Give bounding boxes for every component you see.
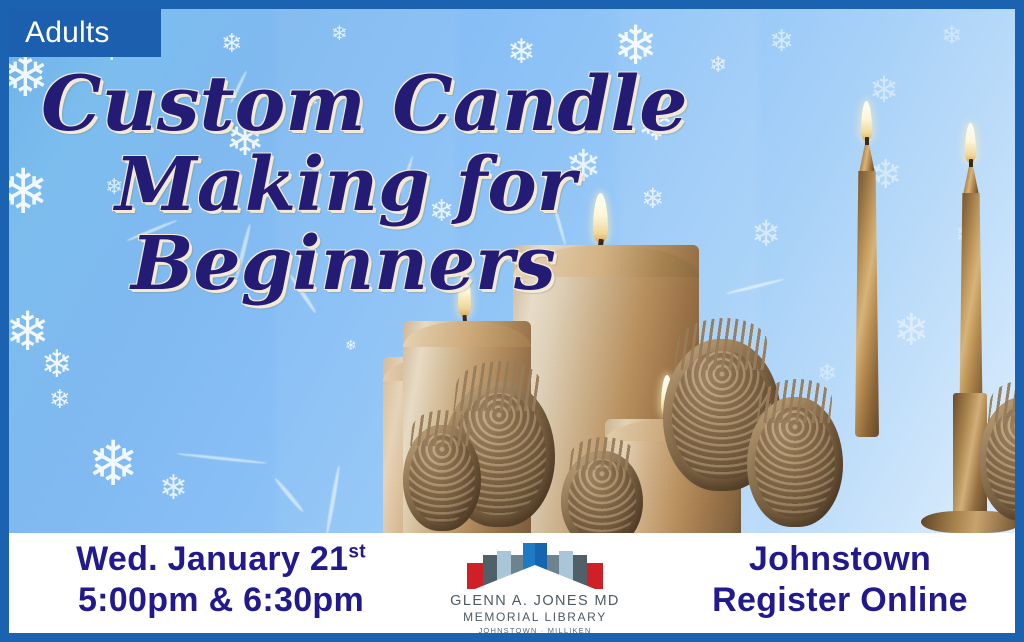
ice-sliver xyxy=(234,223,252,280)
snowflake-icon: ❄ xyxy=(345,339,357,353)
event-date: Wed. January 21st xyxy=(31,539,411,580)
candle-top xyxy=(403,321,531,347)
registration-info: Johnstown Register Online xyxy=(675,539,1005,622)
ice-sliver xyxy=(229,70,247,104)
snowflake-icon: ❄ xyxy=(305,93,318,109)
candle-flame xyxy=(458,271,471,317)
pine-cone-scales xyxy=(410,410,473,446)
event-times: 5:00pm & 6:30pm xyxy=(31,580,411,621)
snowflake-icon: ❄ xyxy=(49,387,71,413)
taper-body xyxy=(963,167,979,195)
snowflake-icon: ❄ xyxy=(159,471,188,505)
snowflake-icon: ❄ xyxy=(87,433,139,495)
ice-sliver xyxy=(288,274,317,314)
snowflake-icon: ❄ xyxy=(507,35,536,69)
library-name: GLENN A. JONES MD xyxy=(435,593,635,610)
library-locations: JOHNSTOWN · MILLIKEN xyxy=(435,625,635,633)
ice-sliver xyxy=(177,452,267,464)
taper-body xyxy=(855,171,879,437)
snowflake-icon: ❄ xyxy=(225,115,265,163)
snowflake-icon: ❄ xyxy=(613,19,658,73)
pine-cone-small-left xyxy=(403,425,481,531)
candle-flame xyxy=(593,193,608,243)
snowflake-icon: ❄ xyxy=(105,177,123,199)
library-subtitle: MEMORIAL LIBRARY xyxy=(435,610,635,625)
event-date-ordinal-suffix: st xyxy=(348,542,366,563)
pine-cone-back-right xyxy=(747,397,843,527)
candle-scene-illustration xyxy=(409,129,1015,533)
ice-sliver xyxy=(325,465,341,533)
snowflake-icon: ❄ xyxy=(769,27,794,57)
snowflake-icon: ❄ xyxy=(709,55,727,77)
taper-body xyxy=(859,145,875,173)
taper-candle-left xyxy=(853,137,879,437)
poster-inner: ❄ ❄ ❄ ❄ ❄ ❄ ❄ ❄ ❄ ❄ ❄ ❄ ❄ ❄ ❄ ❄ ❄ ❄ ❄ ❄ xyxy=(9,9,1015,633)
snowflake-icon: ❄ xyxy=(221,31,243,57)
library-logo-text: GLENN A. JONES MD MEMORIAL LIBRARY JOHNS… xyxy=(435,593,635,633)
info-bar: Wed. January 21st 5:00pm & 6:30pm xyxy=(9,533,1015,633)
ice-sliver xyxy=(126,219,177,242)
register-online-cta[interactable]: Register Online xyxy=(675,580,1005,621)
snowflake-icon: ❄ xyxy=(869,73,899,109)
snowflake-icon: ❄ xyxy=(941,23,963,49)
library-logo-book-icon xyxy=(465,541,605,593)
snowflake-icon: ❄ xyxy=(9,161,49,223)
snowflake-icon: ❄ xyxy=(41,345,73,383)
audience-badge-adults[interactable]: Adults xyxy=(9,9,161,57)
event-poster: ❄ ❄ ❄ ❄ ❄ ❄ ❄ ❄ ❄ ❄ ❄ ❄ ❄ ❄ ❄ ❄ ❄ ❄ ❄ ❄ xyxy=(0,0,1024,642)
pine-cone-scales xyxy=(569,437,635,470)
candle-top xyxy=(513,245,699,277)
branch-name: Johnstown xyxy=(675,539,1005,580)
candle-flame xyxy=(965,123,976,163)
snowflake-icon: ❄ xyxy=(331,23,348,43)
event-datetime: Wed. January 21st 5:00pm & 6:30pm xyxy=(31,539,411,622)
snowflake-icon: ❄ xyxy=(9,305,50,359)
ice-sliver xyxy=(273,477,304,513)
event-date-text: Wed. January 21 xyxy=(76,540,348,578)
pine-cone-scales xyxy=(988,380,1015,422)
library-logo: GLENN A. JONES MD MEMORIAL LIBRARY JOHNS… xyxy=(435,539,635,631)
